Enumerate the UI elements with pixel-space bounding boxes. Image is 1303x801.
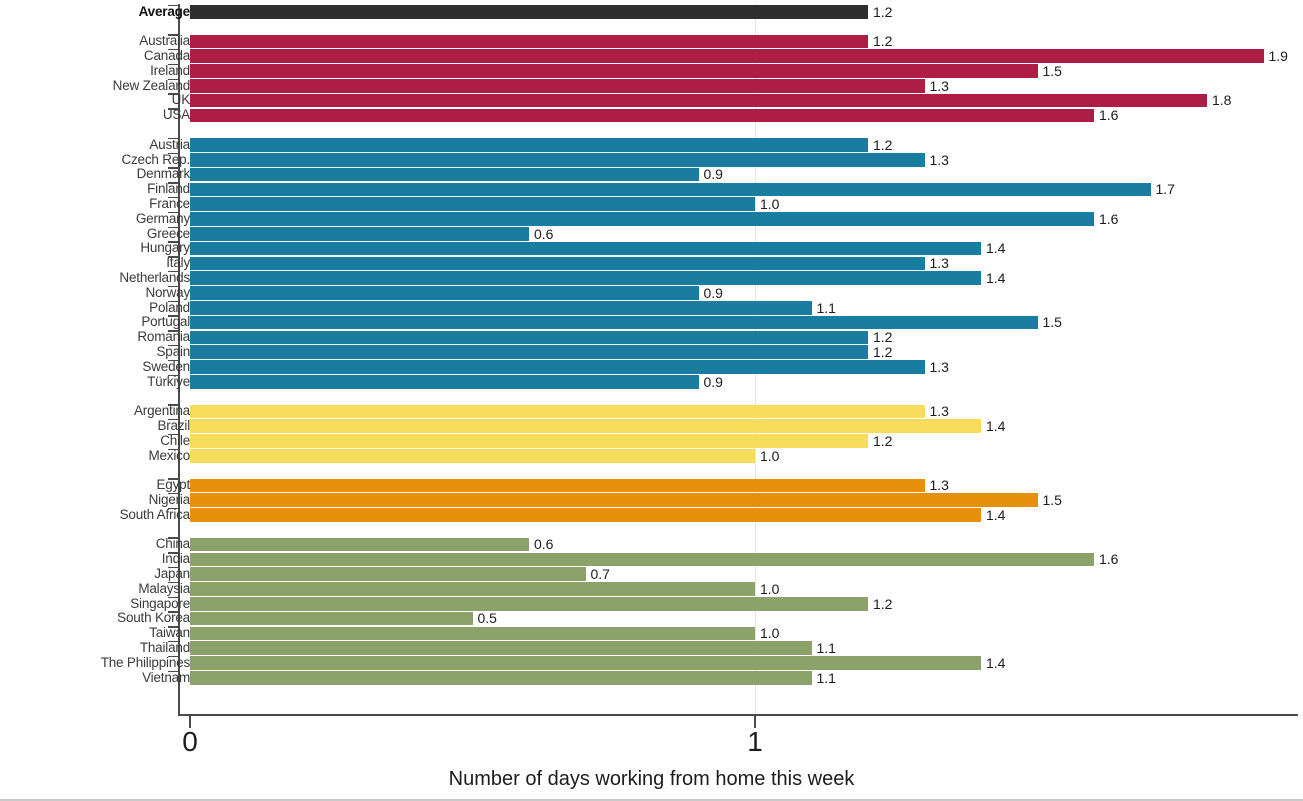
bar-denmark (190, 168, 699, 182)
bar-row: Japan0.7 (0, 567, 1303, 582)
row-label-norway: Norway (145, 286, 190, 301)
row-label-usa: USA (163, 108, 190, 123)
bar-value-label: 0.9 (704, 286, 723, 301)
bar-row: Canada1.9 (0, 49, 1303, 64)
bar-row: Austria1.2 (0, 138, 1303, 153)
bar-ireland (190, 64, 1038, 78)
y-tick-mark (168, 64, 179, 66)
row-label-average: Average (139, 5, 190, 20)
bar-value-label: 1.4 (986, 419, 1005, 434)
bar-mexico (190, 449, 755, 463)
bar-row: Egypt1.3 (0, 478, 1303, 493)
bar-value-label: 1.2 (873, 434, 892, 449)
y-tick-mark (168, 153, 179, 155)
bar-south-africa (190, 508, 981, 522)
bar-germany (190, 212, 1094, 226)
bar-czech-rep- (190, 153, 925, 167)
x-tick-label-1: 1 (747, 726, 763, 758)
bar-value-label: 0.5 (478, 611, 497, 626)
bar-value-label: 1.2 (873, 345, 892, 360)
bar-chile (190, 434, 868, 448)
row-label-brazil: Brazil (157, 419, 190, 434)
y-tick-mark (168, 315, 179, 317)
bar-row: India1.6 (0, 552, 1303, 567)
y-tick-mark (168, 227, 179, 229)
row-label-denmark: Denmark (137, 167, 190, 182)
bar-value-label: 0.9 (704, 167, 723, 182)
row-label-malaysia: Malaysia (138, 582, 190, 597)
bar-usa (190, 109, 1094, 123)
y-tick-mark (168, 404, 179, 406)
x-axis-title: Number of days working from home this we… (0, 768, 1303, 791)
bar-value-label: 0.6 (534, 537, 553, 552)
y-tick-mark (168, 478, 179, 480)
bar-row: Portugal1.5 (0, 315, 1303, 330)
bar-row: Thailand1.1 (0, 641, 1303, 656)
bar-row: Malaysia1.0 (0, 582, 1303, 597)
bar-row: USA1.6 (0, 108, 1303, 123)
bar-row: Türkiye0.9 (0, 375, 1303, 390)
bar-value-label: 0.6 (534, 227, 553, 242)
y-tick-mark (168, 508, 179, 510)
bar-value-label: 1.2 (873, 34, 892, 49)
row-label-argentina: Argentina (134, 404, 190, 419)
bar-t-rkiye (190, 375, 699, 389)
bar-row: Chile1.2 (0, 434, 1303, 449)
row-label-thailand: Thailand (140, 641, 190, 656)
wfh-days-bar-chart: Average1.2English SpeakingAustralia1.2Ca… (0, 0, 1303, 801)
bar-row: Sweden1.3 (0, 360, 1303, 375)
bar-row: Spain1.2 (0, 345, 1303, 360)
bar-row: Netherlands1.4 (0, 271, 1303, 286)
bar-value-label: 1.1 (817, 641, 836, 656)
y-tick-mark (168, 552, 179, 554)
bar-row: Ireland1.5 (0, 64, 1303, 79)
bar-row: The Philippines1.4 (0, 656, 1303, 671)
bar-row: China0.6 (0, 537, 1303, 552)
y-tick-mark (168, 375, 179, 377)
row-label-china: China (156, 537, 190, 552)
row-label-new-zealand: New Zealand (113, 79, 190, 94)
bar-row: South Africa1.4 (0, 508, 1303, 523)
y-tick-mark (168, 419, 179, 421)
bar-romania (190, 331, 868, 345)
bar-canada (190, 49, 1264, 63)
row-label-t-rkiye: Türkiye (147, 375, 190, 390)
row-label-uk: UK (172, 93, 190, 108)
bar-row: Czech Rep.1.3 (0, 153, 1303, 168)
y-tick-mark (168, 241, 179, 243)
bar-value-label: 1.4 (986, 508, 1005, 523)
bar-value-label: 1.6 (1099, 552, 1118, 567)
row-label-hungary: Hungary (140, 241, 190, 256)
bar-austria (190, 138, 868, 152)
bar-average (190, 5, 868, 19)
x-tick-label-0: 0 (182, 726, 198, 758)
row-label-ireland: Ireland (150, 64, 190, 79)
bar-value-label: 1.4 (986, 271, 1005, 286)
bar-vietnam (190, 671, 812, 685)
row-label-chile: Chile (160, 434, 190, 449)
bar-value-label: 1.2 (873, 138, 892, 153)
y-tick-mark (168, 493, 179, 495)
row-label-south-korea: South Korea (117, 611, 190, 626)
y-tick-mark (168, 345, 179, 347)
row-label-czech-rep-: Czech Rep. (121, 153, 190, 168)
bar-value-label: 0.9 (704, 375, 723, 390)
bar-brazil (190, 419, 981, 433)
bar-row: France1.0 (0, 197, 1303, 212)
bar-malaysia (190, 582, 755, 596)
bar-row: Average1.2 (0, 5, 1303, 20)
y-tick-mark (168, 197, 179, 199)
bar-row: Italy1.3 (0, 256, 1303, 271)
y-tick-mark (168, 449, 179, 451)
row-label-taiwan: Taiwan (149, 626, 190, 641)
bar-value-label: 1.3 (930, 478, 949, 493)
bar-row: Australia1.2 (0, 34, 1303, 49)
bar-row: Germany1.6 (0, 212, 1303, 227)
y-tick-mark (168, 360, 179, 362)
bar-italy (190, 257, 925, 271)
bar-row: Romania1.2 (0, 330, 1303, 345)
bar-south-korea (190, 612, 473, 626)
y-tick-mark (168, 79, 179, 81)
bar-row: Singapore1.2 (0, 597, 1303, 612)
row-label-poland: Poland (149, 301, 190, 316)
row-label-romania: Romania (137, 330, 190, 345)
bar-poland (190, 301, 812, 315)
y-tick-mark (168, 49, 179, 51)
y-tick-mark (168, 286, 179, 288)
x-axis-line (178, 714, 1298, 716)
bar-japan (190, 567, 586, 581)
bar-australia (190, 35, 868, 49)
y-tick-mark (168, 671, 179, 673)
row-label-india: India (162, 552, 190, 567)
y-tick-mark (168, 656, 179, 658)
y-tick-mark (168, 182, 179, 184)
bar-egypt (190, 479, 925, 493)
bar-value-label: 1.3 (930, 256, 949, 271)
y-tick-mark (168, 434, 179, 436)
row-label-the-philippines: The Philippines (101, 656, 190, 671)
row-label-netherlands: Netherlands (119, 271, 190, 286)
bar-sweden (190, 360, 925, 374)
y-tick-mark (168, 567, 179, 569)
bar-value-label: 1.2 (873, 5, 892, 20)
row-label-portugal: Portugal (141, 315, 190, 330)
bar-the-philippines (190, 656, 981, 670)
bar-argentina (190, 405, 925, 419)
bar-value-label: 1.2 (873, 330, 892, 345)
row-label-canada: Canada (144, 49, 190, 64)
y-tick-mark (168, 5, 179, 7)
y-tick-mark (168, 167, 179, 169)
bar-row: Brazil1.4 (0, 419, 1303, 434)
row-label-sweden: Sweden (142, 360, 190, 375)
bar-value-label: 1.6 (1099, 108, 1118, 123)
row-label-nigeria: Nigeria (149, 493, 190, 508)
row-label-france: France (149, 197, 190, 212)
bar-row: South Korea0.5 (0, 611, 1303, 626)
y-tick-mark (168, 641, 179, 643)
y-tick-mark (168, 212, 179, 214)
bar-row: Nigeria1.5 (0, 493, 1303, 508)
bar-value-label: 1.5 (1043, 493, 1062, 508)
bar-row: Mexico1.0 (0, 449, 1303, 464)
bar-row: Norway0.9 (0, 286, 1303, 301)
y-tick-mark (168, 93, 179, 95)
bar-value-label: 1.4 (986, 656, 1005, 671)
bar-china (190, 538, 529, 552)
bar-row: Hungary1.4 (0, 241, 1303, 256)
bar-value-label: 1.3 (930, 79, 949, 94)
y-tick-mark (168, 271, 179, 273)
bar-greece (190, 227, 529, 241)
y-tick-mark (168, 611, 179, 613)
row-label-singapore: Singapore (130, 597, 190, 612)
bar-value-label: 1.1 (817, 301, 836, 316)
bar-value-label: 1.9 (1269, 49, 1288, 64)
bar-finland (190, 183, 1151, 197)
y-tick-mark (168, 138, 179, 140)
y-tick-mark (168, 34, 179, 36)
bar-row: Finland1.7 (0, 182, 1303, 197)
bar-hungary (190, 242, 981, 256)
bar-value-label: 1.3 (930, 153, 949, 168)
row-label-japan: Japan (154, 567, 190, 582)
row-label-greece: Greece (147, 227, 190, 242)
row-label-mexico: Mexico (148, 449, 190, 464)
bar-taiwan (190, 627, 755, 641)
bar-row: Denmark0.9 (0, 167, 1303, 182)
bar-value-label: 1.5 (1043, 64, 1062, 79)
bar-row: Vietnam1.1 (0, 671, 1303, 686)
row-label-egypt: Egypt (156, 478, 190, 493)
bar-value-label: 1.4 (986, 241, 1005, 256)
y-tick-mark (168, 330, 179, 332)
bar-value-label: 1.8 (1212, 93, 1231, 108)
bar-value-label: 1.3 (930, 404, 949, 419)
bar-row: Greece0.6 (0, 227, 1303, 242)
row-label-australia: Australia (139, 34, 190, 49)
bar-france (190, 197, 755, 211)
y-tick-mark (168, 582, 179, 584)
row-label-italy: Italy (166, 256, 190, 271)
bar-value-label: 1.0 (760, 197, 779, 212)
bar-singapore (190, 597, 868, 611)
bar-row: Argentina1.3 (0, 404, 1303, 419)
bar-value-label: 1.5 (1043, 315, 1062, 330)
bar-nigeria (190, 493, 1038, 507)
row-label-germany: Germany (136, 212, 190, 227)
row-label-south-africa: South Africa (120, 508, 190, 523)
y-tick-mark (168, 537, 179, 539)
bar-value-label: 1.0 (760, 582, 779, 597)
row-label-spain: Spain (156, 345, 190, 360)
bar-value-label: 1.1 (817, 671, 836, 686)
bar-portugal (190, 316, 1038, 330)
bar-new-zealand (190, 79, 925, 93)
bar-row: Taiwan1.0 (0, 626, 1303, 641)
y-tick-mark (168, 256, 179, 258)
bar-value-label: 1.3 (930, 360, 949, 375)
y-tick-mark (168, 108, 179, 110)
bar-norway (190, 286, 699, 300)
bar-value-label: 1.6 (1099, 212, 1118, 227)
bar-row: New Zealand1.3 (0, 79, 1303, 94)
bar-value-label: 1.0 (760, 449, 779, 464)
row-label-finland: Finland (147, 182, 190, 197)
y-tick-mark (168, 626, 179, 628)
bar-netherlands (190, 271, 981, 285)
bar-value-label: 1.2 (873, 597, 892, 612)
bar-thailand (190, 641, 812, 655)
bar-uk (190, 94, 1207, 108)
bar-india (190, 553, 1094, 567)
row-label-austria: Austria (149, 138, 190, 153)
bar-value-label: 1.7 (1156, 182, 1175, 197)
row-label-vietnam: Vietnam (142, 671, 190, 686)
bar-row: Poland1.1 (0, 301, 1303, 316)
bar-value-label: 0.7 (591, 567, 610, 582)
bar-spain (190, 345, 868, 359)
bar-row: UK1.8 (0, 93, 1303, 108)
bar-value-label: 1.0 (760, 626, 779, 641)
y-tick-mark (168, 597, 179, 599)
y-tick-mark (168, 301, 179, 303)
